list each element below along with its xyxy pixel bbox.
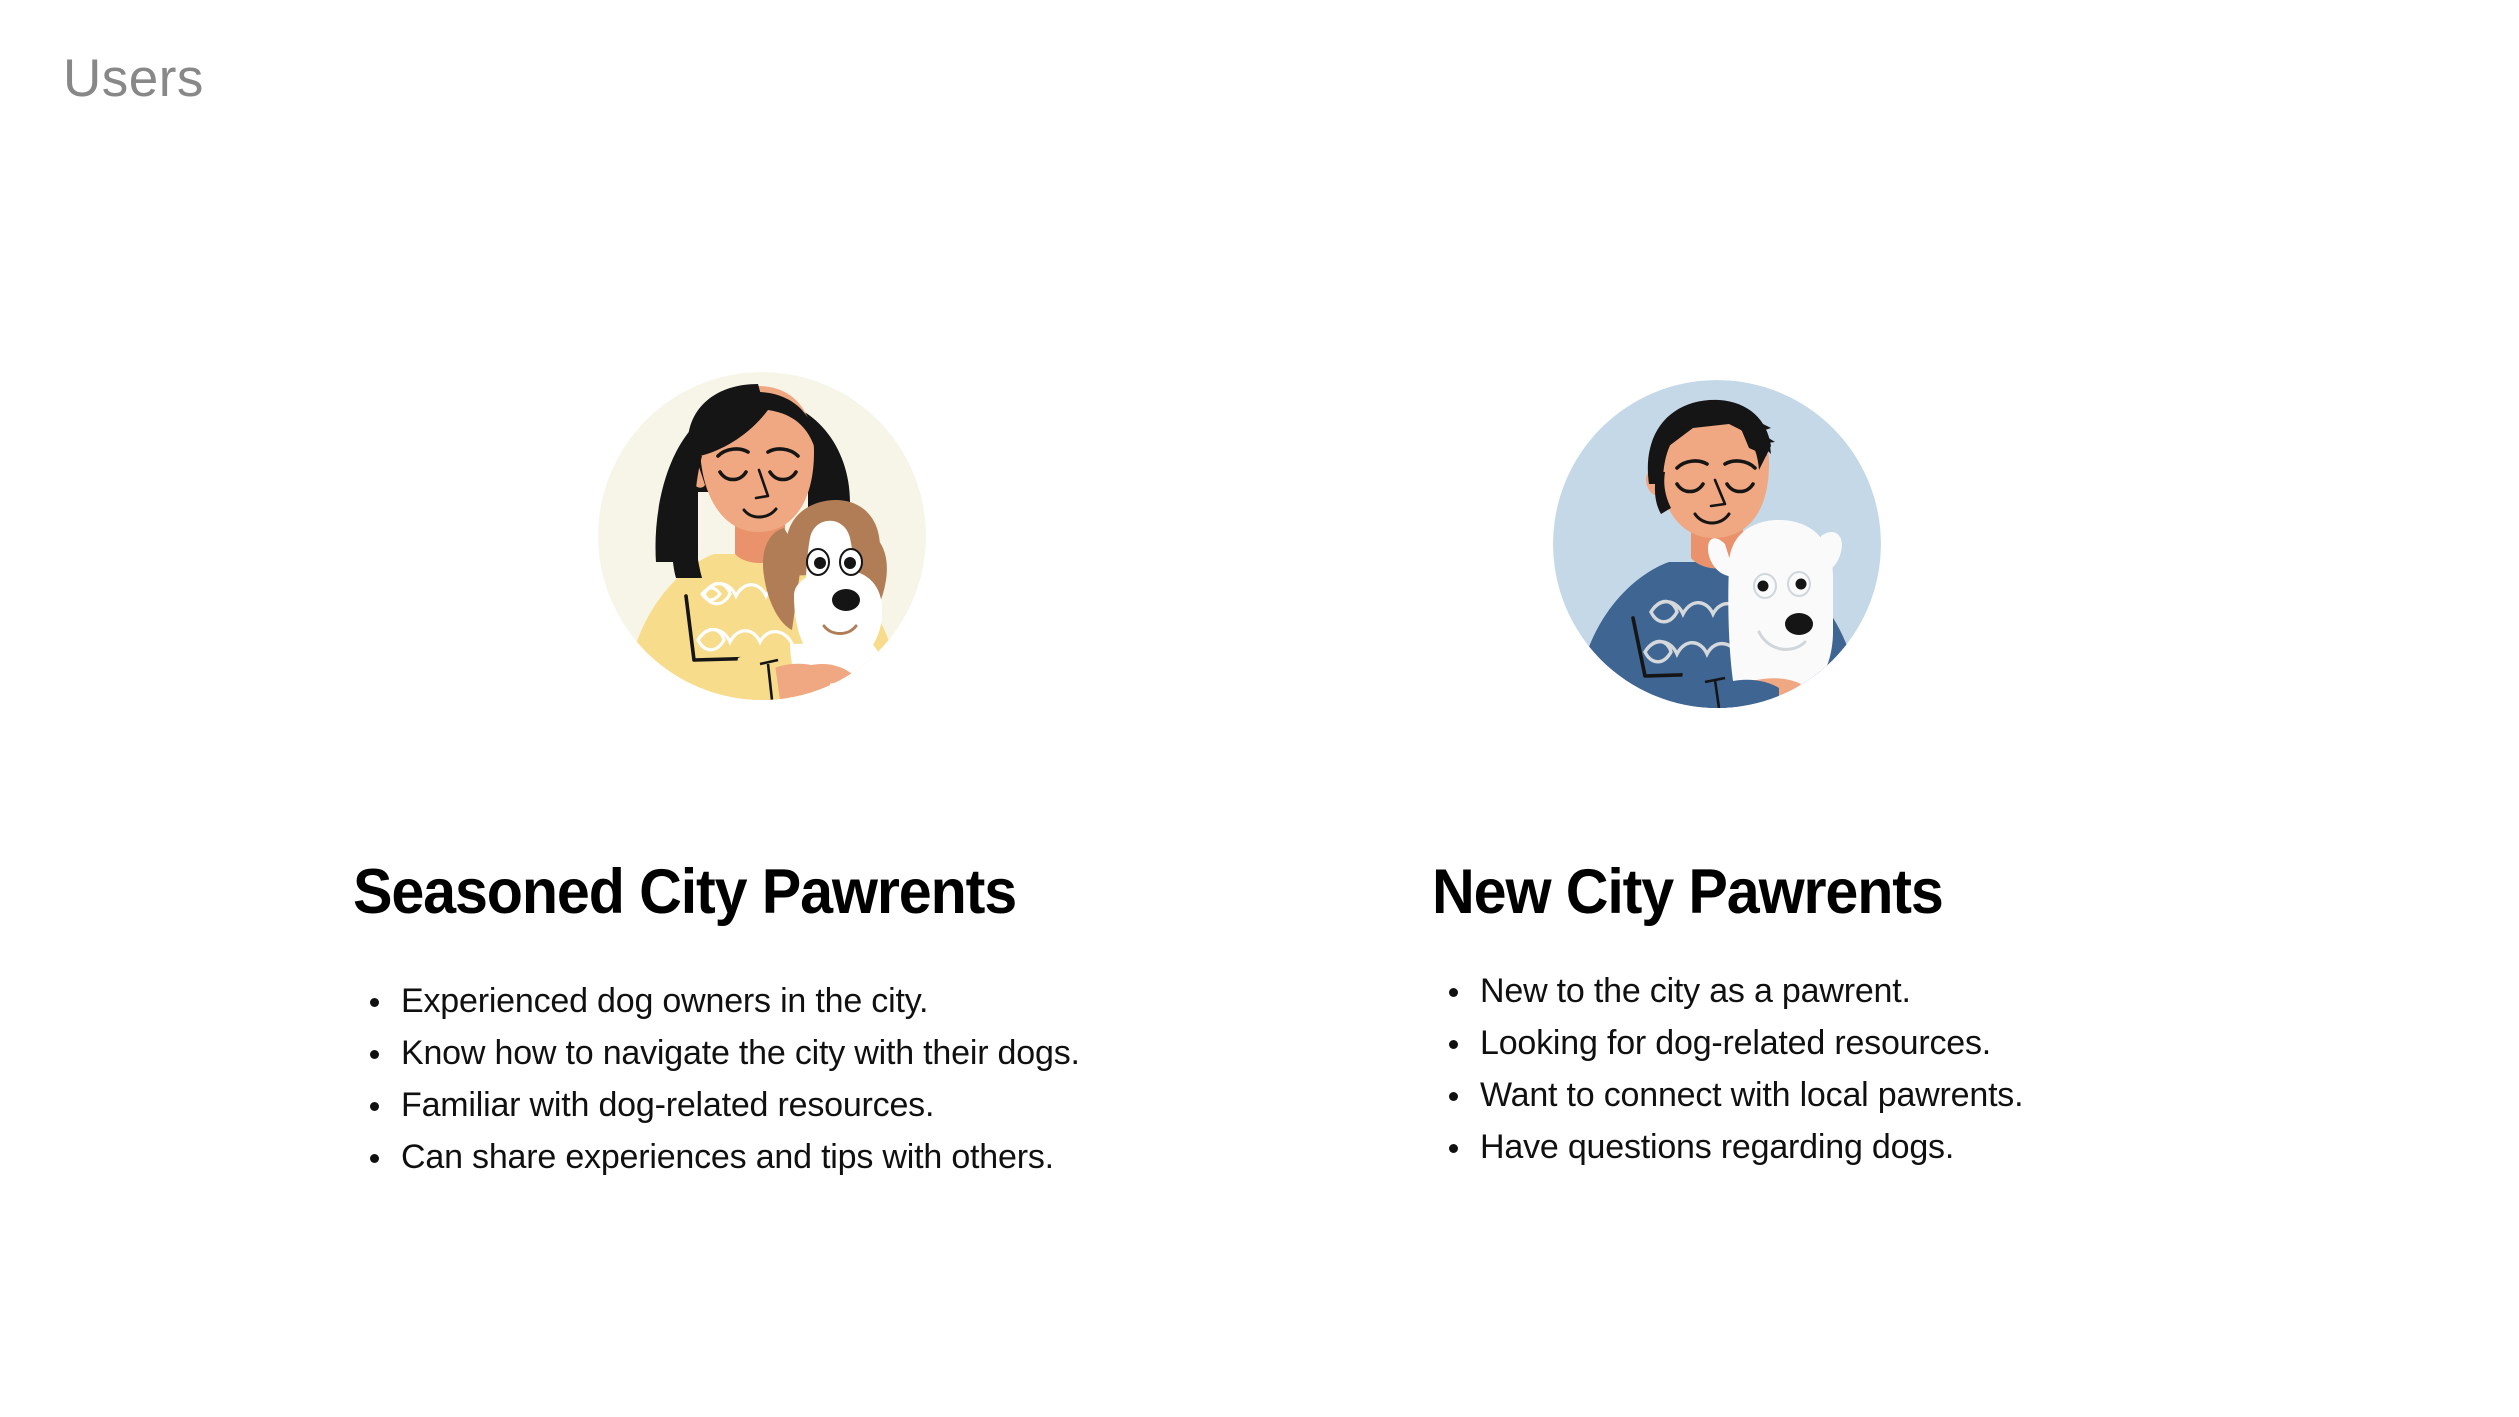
list-item: New to the city as a pawrent. [1440,965,2023,1017]
woman-with-brown-dog-avatar [598,372,926,700]
list-item: Familiar with dog-related resources. [361,1079,1080,1131]
bullet-dot-icon [1449,1144,1458,1153]
persona-heading: New City Pawrents [1432,858,1943,927]
persona-bullet-list: New to the city as a pawrent. Looking fo… [1440,965,2023,1173]
list-item-label: Can share experiences and tips with othe… [401,1138,1054,1176]
list-item-label: Experienced dog owners in the city. [401,982,928,1020]
persona-heading: Seasoned City Pawrents [353,858,1016,927]
list-item: Have questions regarding dogs. [1440,1121,2023,1173]
bullet-dot-icon [370,1154,379,1163]
list-item-label: Want to connect with local pawrents. [1480,1076,2023,1114]
bullet-dot-icon [370,1050,379,1059]
bullet-dot-icon [370,998,379,1007]
list-item: Experienced dog owners in the city. [361,975,1080,1027]
slide-canvas: Users [0,0,2519,1417]
list-item-label: Looking for dog-related resources. [1480,1024,1991,1062]
list-item-label: Know how to navigate the city with their… [401,1034,1080,1072]
page-title: Users [63,52,204,105]
list-item: Want to connect with local pawrents. [1440,1069,2023,1121]
list-item-label: Familiar with dog-related resources. [401,1086,934,1124]
bullet-dot-icon [370,1102,379,1111]
list-item-label: New to the city as a pawrent. [1480,972,1911,1010]
list-item: Can share experiences and tips with othe… [361,1131,1080,1183]
persona-card-seasoned: Seasoned City Pawrents Experienced dog o… [353,0,1433,1417]
man-with-white-dog-avatar [1553,380,1881,708]
list-item-label: Have questions regarding dogs. [1480,1128,1954,1166]
list-item: Looking for dog-related resources. [1440,1017,2023,1069]
bullet-dot-icon [1449,988,1458,997]
bullet-dot-icon [1449,1092,1458,1101]
list-item: Know how to navigate the city with their… [361,1027,1080,1079]
bullet-dot-icon [1449,1040,1458,1049]
persona-card-new: New City Pawrents New to the city as a p… [1432,0,2512,1417]
persona-bullet-list: Experienced dog owners in the city. Know… [361,975,1080,1183]
